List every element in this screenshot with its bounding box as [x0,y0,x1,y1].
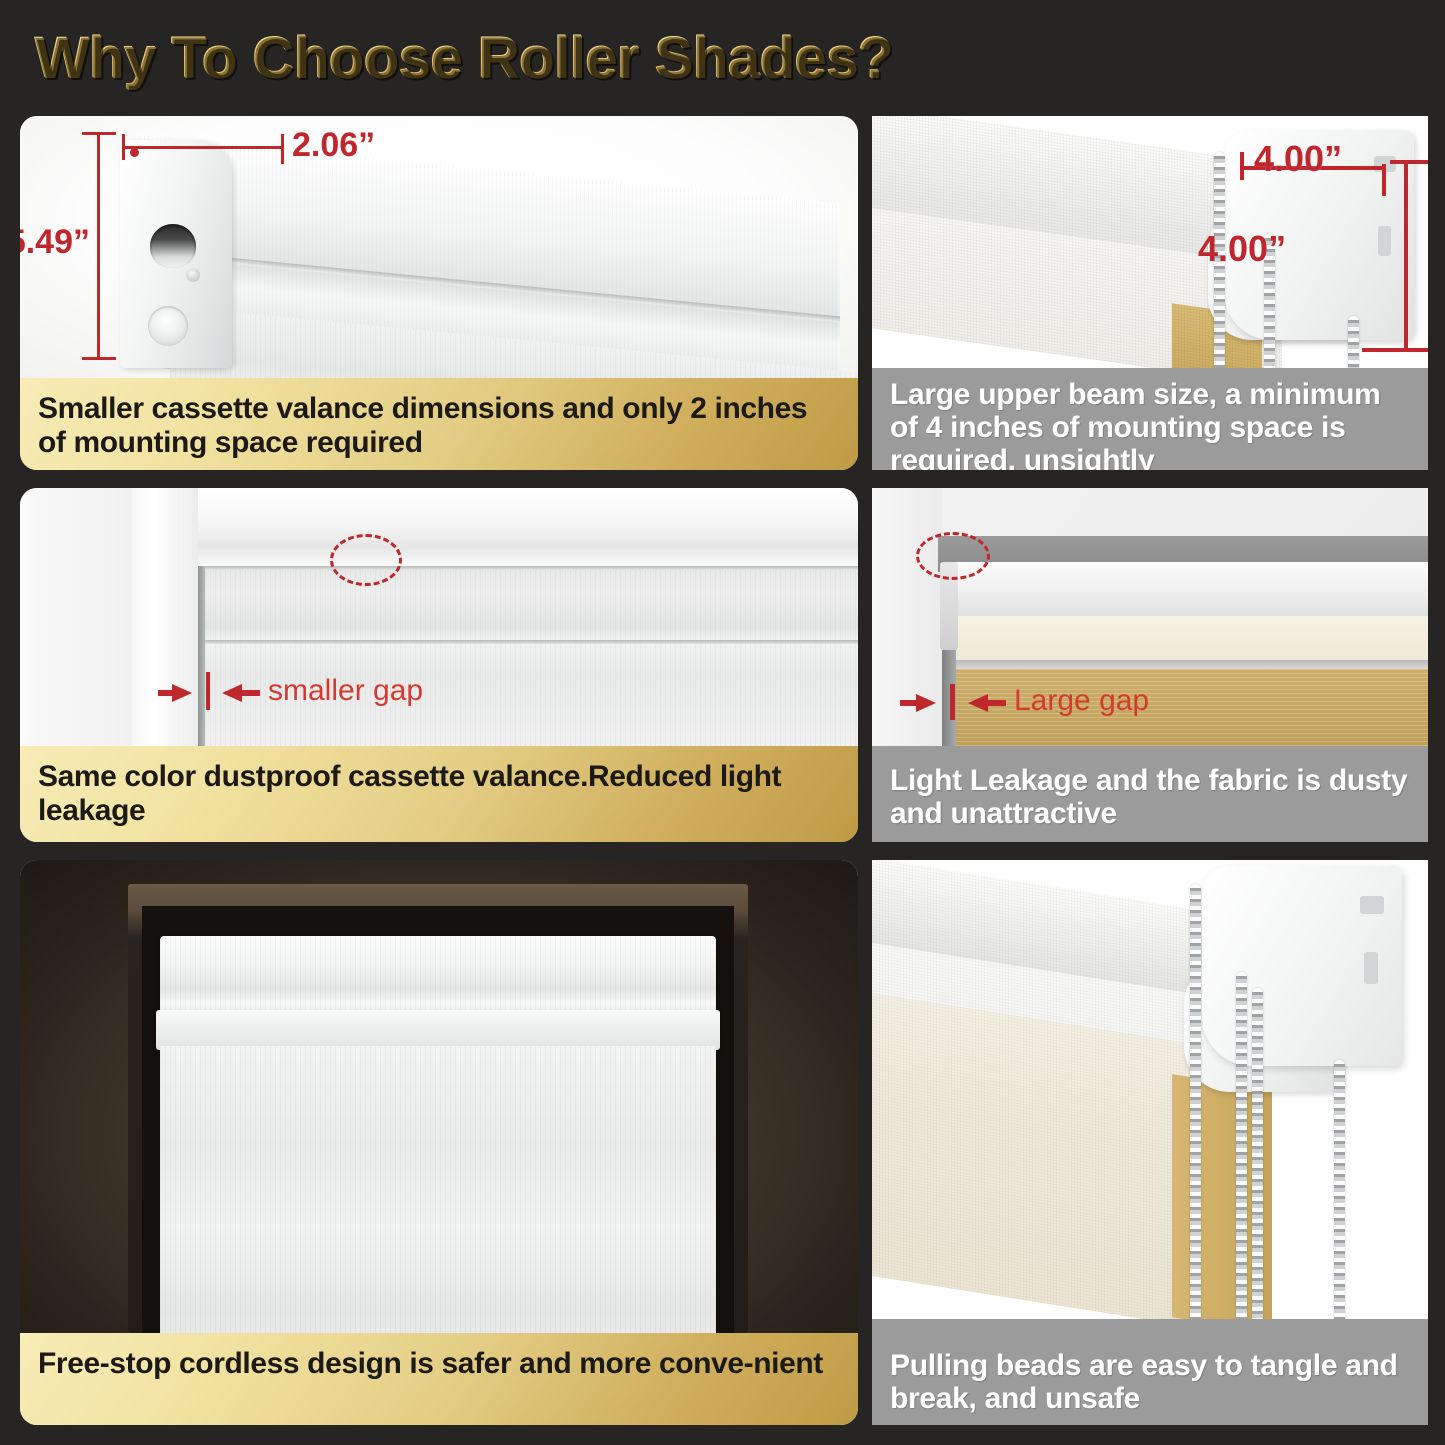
gap-arrow-right-icon [968,694,988,712]
bead-chain-left [1190,884,1201,1333]
bead-chain-mid-a [1236,972,1247,1333]
gap-marker-line [206,672,210,710]
upper-beam [952,562,1428,624]
large-gap-label: Large gap [1014,684,1149,718]
bracket-notch-mid [1364,952,1378,984]
panel-cassette-valance-dimensions: 2.06” 5.49” Smaller cassette valance dim… [20,116,858,470]
gap-edge [198,566,205,746]
bracket-notch-top [1360,896,1384,914]
panel-3-caption: Same color dustproof cassette valance.Re… [20,746,858,842]
bottom-rail [952,660,1428,669]
beam-height-tick-bottom [1362,348,1428,352]
valance-seam-lower [200,640,858,644]
screw-icon [186,268,200,282]
panel-large-upper-beam: 4.00” 4.00” Large upper beam size, a min… [872,116,1428,470]
panel-2-photo: 4.00” 4.00” [872,116,1428,374]
width-dim-tick-left [122,134,125,160]
panel-3-photo: smaller gap [20,488,858,746]
beam-width-tick-left [1240,152,1244,180]
page-title: Why To Choose Roller Shades? [34,24,892,91]
cream-fabric-band [954,616,1428,664]
dimension-origin-dot [130,148,139,157]
window-recess [142,906,734,1333]
panel-6-photo [872,860,1428,1333]
panel-light-leakage-dusty-fabric: Large gap Light Leakage and the fabric i… [872,488,1428,842]
bead-chain-right [1334,1060,1345,1333]
bead-chain-mid-b [1252,988,1263,1333]
height-dim-line [97,132,100,360]
width-dim-line [122,146,284,149]
gap-arrow-left-tail [158,690,176,696]
panel-5-caption: Free-stop cordless design is safer and m… [20,1333,858,1425]
gap-arrow-right-tail [988,700,1006,706]
beam-height-dim-line [1404,160,1408,352]
panel-5-photo [20,860,858,1333]
lower-roller-icon [148,306,188,346]
beam-width-label: 4.00” [1254,138,1342,180]
panel-4-caption: Light Leakage and the fabric is dusty an… [872,746,1428,842]
valance-lower-lip [156,1010,720,1050]
valance-seam-upper [200,566,858,570]
window-frame-top [132,488,858,566]
width-dim-tick-right [281,134,284,164]
smaller-gap-label: smaller gap [268,674,423,708]
beam-width-tick-right [1382,164,1386,196]
cassette-slot-icon [150,224,196,268]
window-frame-left [132,488,198,746]
height-dimension-label: 5.49” [20,223,90,262]
height-dim-tick-bottom [82,357,116,360]
panel-dustproof-cassette-valance: smaller gap Same color dustproof cassett… [20,488,858,842]
bracket-notch-mid [1378,226,1391,256]
bead-chain-right [1348,316,1359,374]
panel-1-photo: 2.06” 5.49” [20,116,858,378]
gap-highlight-circle [916,532,990,580]
shade-fabric [200,566,858,746]
valance-end-cap [120,140,232,368]
panel-4-photo: Large gap [872,488,1428,746]
gap-marker-line [950,684,955,720]
gap-arrow-left-tail [900,700,920,706]
shade-fabric [160,1046,716,1333]
floor-shadow [872,1319,1428,1333]
gap-arrow-right-icon [222,684,242,702]
window-assembly [128,884,748,1333]
wall-left [20,488,132,746]
gap-arrow-right-tail [242,690,260,696]
bracket-upper-body [1202,866,1402,1066]
height-dim-tick-top [82,132,116,135]
gap-highlight-circle [330,534,402,586]
width-dimension-label: 2.06” [292,126,375,165]
panel-free-stop-cordless-design: Free-stop cordless design is safer and m… [20,860,858,1425]
panel-1-caption: Smaller cassette valance dimensions and … [20,378,858,470]
beam-height-label: 4.00” [1198,228,1286,270]
panel-pulling-beads-tangle: Pulling beads are easy to tangle and bre… [872,860,1428,1425]
panel-6-caption: Pulling beads are easy to tangle and bre… [872,1333,1428,1425]
infographic-root: Why To Choose Roller Shades? 2.06” 5.49” [0,0,1445,1445]
panel-2-caption: Large upper beam size, a minimum of 4 in… [872,368,1428,470]
beam-height-tick-top [1390,160,1428,164]
